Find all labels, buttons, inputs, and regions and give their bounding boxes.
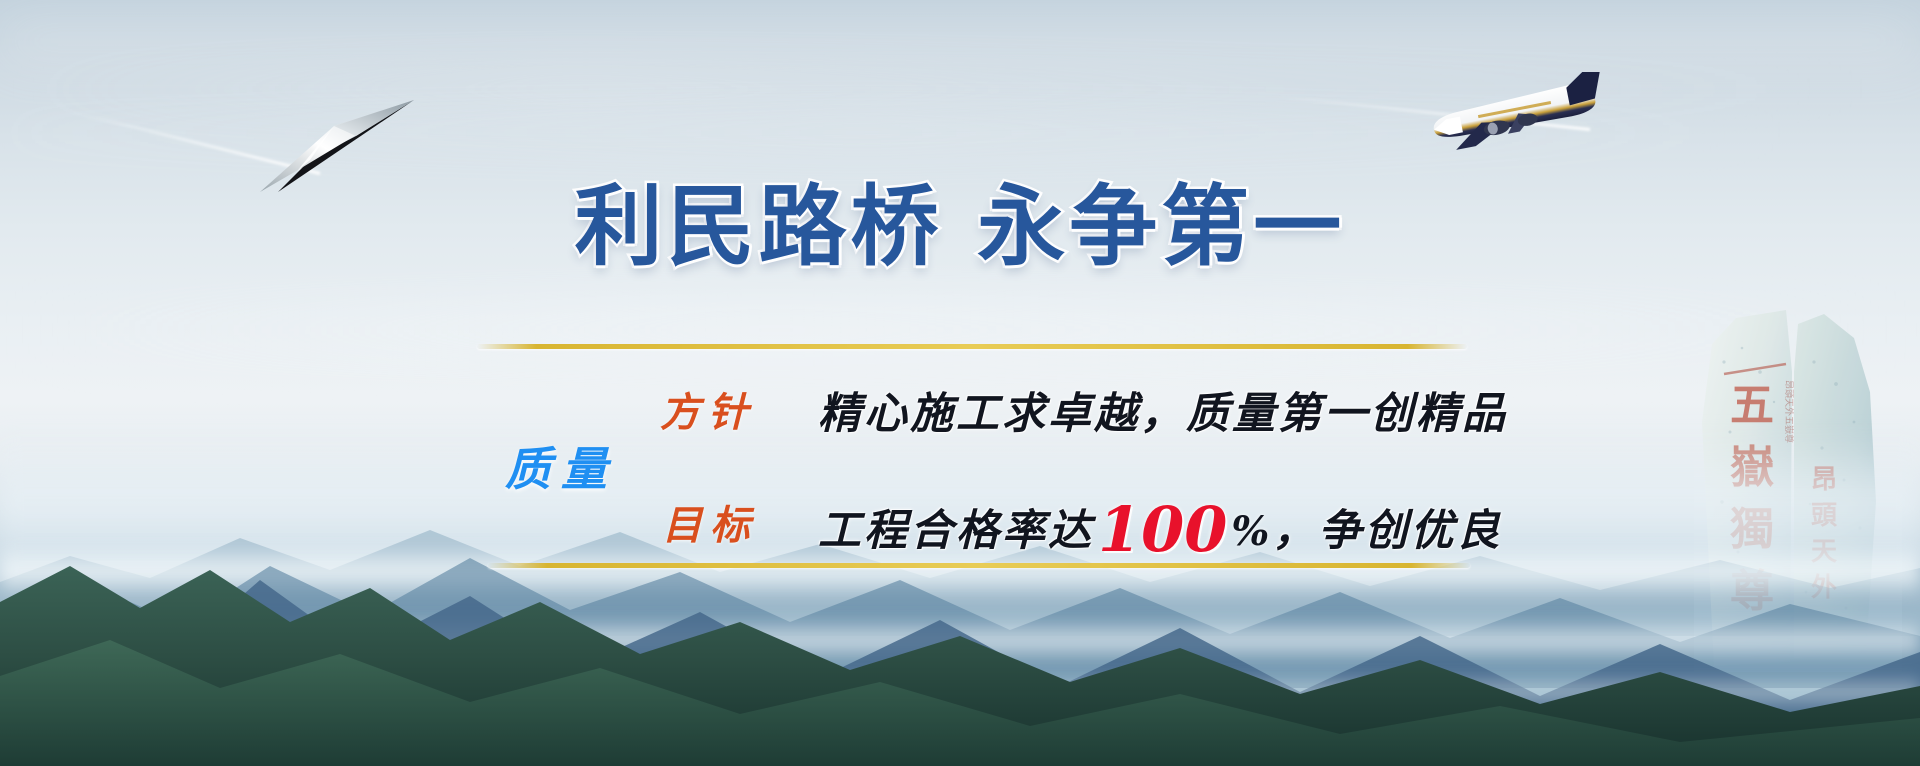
hero-banner: 五 嶽 獨 尊 昂 頭 天 外 昂頭天外五嶽尊 bbox=[0, 0, 1920, 766]
slogan-goal-prefix: 工程合格率达 bbox=[818, 506, 1094, 556]
slogan-policy: 精心施工求卓越，质量第一创精品 bbox=[818, 379, 1508, 441]
banner-content: 利民路桥 永争第一 方针 精心施工求卓越，质量第一创精品 质量 目标 工程合格率… bbox=[0, 0, 1920, 766]
divider-bottom bbox=[488, 563, 1470, 568]
quality-word: 质量 bbox=[505, 433, 617, 499]
percent-sign: % bbox=[1231, 508, 1272, 555]
kicker-goal: 目标 bbox=[662, 493, 758, 551]
slogan-goal-suffix: ，争创优良 bbox=[1272, 506, 1502, 556]
kicker-policy: 方针 bbox=[660, 380, 756, 438]
compliance-rate-value: 100 bbox=[1094, 493, 1231, 566]
divider-top bbox=[477, 344, 1467, 349]
slogan-goal: 工程合格率达100%，争创优良 bbox=[818, 493, 1502, 566]
page-title: 利民路桥 永争第一 bbox=[0, 183, 1920, 271]
